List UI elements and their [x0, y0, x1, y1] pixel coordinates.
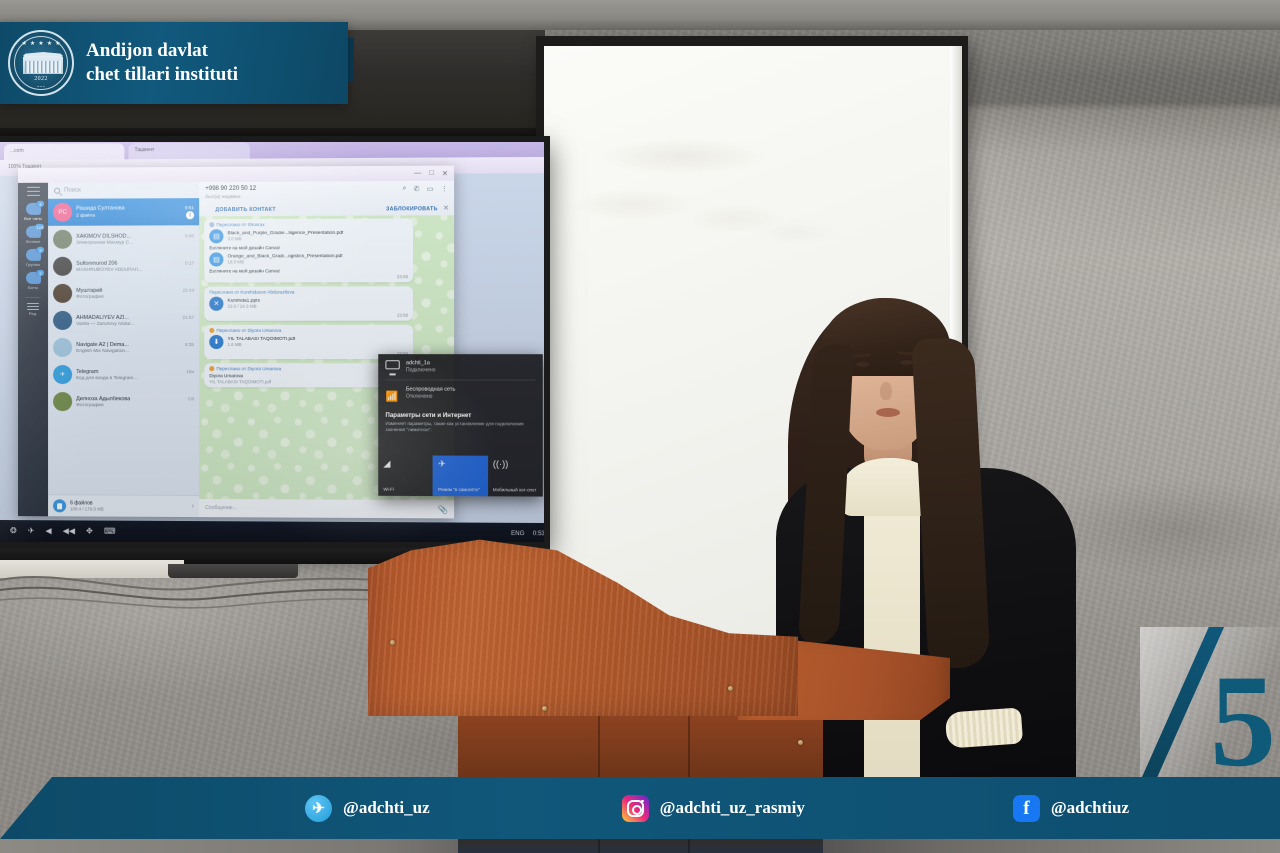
- file-attachment[interactable]: ▤ Black_and_Purple_Gradie...lligence_Pre…: [209, 229, 408, 244]
- network-name: adchti_1a: [406, 360, 436, 366]
- wall-display: ...com Ташкент 100% Тошкент — □ ✕: [0, 136, 550, 548]
- wifi-tile-icon: ◢: [383, 459, 427, 468]
- social-facebook[interactable]: f @adchtiuz: [1013, 795, 1129, 822]
- sender-avatar-icon: [209, 366, 214, 371]
- emblem-year: 2022: [10, 76, 72, 82]
- institution-line-2: chet tillari instituti: [86, 63, 238, 87]
- chat-text: Navigate A2 | Dema...8:35 English Mix Na…: [76, 341, 194, 353]
- powerpoint-icon: ✕: [209, 297, 223, 311]
- chat-preview: Электронная Махмур С...: [76, 240, 194, 245]
- message-bubble[interactable]: Переслано от Shoxrux ▤ Black_and_Purple_…: [204, 218, 413, 282]
- file-size: 18.0 MB: [228, 259, 343, 264]
- rail-badge-all-chats: 4: [37, 201, 44, 207]
- player-next-icon[interactable]: ✥: [86, 527, 93, 535]
- browser-tab-2[interactable]: Ташкент: [128, 142, 249, 159]
- conversation-header: +998 90 220 50 12 был(а) недавно ⌕ ✆ ▭ ⋮…: [199, 181, 454, 216]
- forwarded-label: Переслано от Diyora Umarova: [209, 328, 408, 333]
- chat-preview: Фотография: [76, 294, 194, 299]
- social-footer: ✈ @adchti_uz @adchti_uz_rasmiy f @adchti…: [0, 777, 1280, 839]
- player-rewind-icon[interactable]: ◀◀: [63, 527, 75, 535]
- document-icon: ▤: [209, 229, 223, 243]
- wireless-name: Беспроводная сеть: [406, 387, 455, 393]
- download-icon[interactable]: ⬇: [209, 335, 223, 349]
- paperclip-icon[interactable]: 📎: [438, 505, 448, 514]
- browser-tab-1[interactable]: ...com: [4, 143, 124, 160]
- emblem-building-icon: [23, 56, 63, 74]
- more-icon[interactable]: ⋮: [441, 185, 448, 193]
- chat-time: Cб: [188, 396, 194, 401]
- file-meta: YIL TALABASI TAQOIMOTI.pdf 1.6 MB: [228, 337, 296, 348]
- chat-preview: MASHRUBOYEV ABDURAH...: [76, 267, 194, 272]
- podium-screw: [542, 706, 547, 711]
- facebook-handle: @adchtiuz: [1051, 798, 1129, 818]
- chat-text: Дилноза АдылбековаCб Фотография: [76, 396, 194, 408]
- sweater-cuff: [945, 707, 1023, 748]
- unread-badge: 2: [186, 211, 194, 219]
- forwarded-label: Переслано от Kurshidaxon Abdurazilova: [209, 289, 408, 294]
- chat-preview: Код для входа в Telegram...: [76, 376, 194, 381]
- file-size: 1.6 MB: [228, 342, 296, 347]
- rail-divider: [25, 297, 41, 298]
- tile-label: Режим "в самолёте": [438, 486, 483, 492]
- contact-status: был(а) недавно: [205, 195, 240, 200]
- window-icon[interactable]: ▭: [427, 185, 434, 193]
- chat-preview: Фотография: [76, 403, 194, 408]
- wireless-status: Отключено: [406, 394, 455, 400]
- files-text: 6 файлов 100.4 / 179.0 MB: [70, 500, 104, 511]
- telegram-icon: ✈: [305, 795, 332, 822]
- emblem-columns: [25, 61, 61, 73]
- tile-airplane-mode[interactable]: ✈ Режим "в самолёте": [433, 456, 488, 497]
- file-meta: Kurshida1.pptx 23.5 / 24.3 MB: [228, 298, 260, 309]
- file-meta: Orange_and_Black_Gradi...ogistics_Presen…: [228, 254, 343, 265]
- rail-badge-private: 124: [35, 224, 44, 230]
- eye-left: [856, 362, 869, 367]
- chat-list-item[interactable]: Муштарий22:44 Фотография: [48, 280, 199, 307]
- chat-name: Рашида Султанова: [76, 205, 124, 211]
- rail-label-private: Личные: [26, 239, 41, 244]
- rail-label-all-chats: Все чаты: [24, 216, 42, 221]
- file-name: Black_and_Purple_Gradie...lligence_Prese…: [228, 231, 344, 236]
- network-flyout[interactable]: adchti_1a Подключено 📶 Беспроводная сеть…: [378, 354, 543, 496]
- nose: [880, 382, 892, 400]
- minimize-icon[interactable]: —: [414, 170, 421, 177]
- mouth: [876, 408, 900, 417]
- chat-list-item[interactable]: Дилноза АдылбековаCб Фотография: [48, 388, 199, 415]
- search-input[interactable]: Поиск: [48, 182, 199, 199]
- forwarded-from: Переслано от Diyora Umarova: [216, 328, 281, 333]
- screenshot-root: ...com Ташкент 100% Тошкент — □ ✕: [0, 0, 1280, 853]
- chat-time: 9:51: [185, 205, 194, 210]
- institution-header: ★★★★★ 2022 ~~~ Andijon davlat chet tilla…: [0, 22, 348, 104]
- podium-wood-grain: [368, 536, 798, 716]
- search-icon: [54, 188, 60, 194]
- message-placeholder: Сообщение...: [205, 505, 237, 511]
- add-contact-button[interactable]: ДОБАВИТЬ КОНТАКТ: [215, 206, 276, 212]
- file-size: 23.5 / 24.3 MB: [228, 304, 260, 309]
- quick-action-tiles: ◢ Wi-Fi ✈ Режим "в самолёте" ((·)) Мобил…: [378, 455, 543, 496]
- watermark-number: 5: [1210, 655, 1276, 777]
- network-connected-text: adchti_1a Подключено: [406, 360, 436, 373]
- file-attachment[interactable]: ⬇ YIL TALABASI TAQOIMOTI.pdf 1.6 MB: [209, 335, 408, 349]
- emblem-arc-text: ~~~: [10, 84, 72, 89]
- institution-name: Andijon davlat chet tillari instituti: [86, 39, 238, 86]
- network-connected-item[interactable]: adchti_1a Подключено: [378, 354, 543, 379]
- rail-item-groups[interactable]: 9 Группы: [18, 248, 48, 268]
- social-instagram[interactable]: @adchti_uz_rasmiy: [622, 795, 805, 822]
- chat-text: XAKIMOV DILSHOD...0:46 Электронная Махму…: [76, 233, 194, 245]
- block-contact-button[interactable]: ЗАБЛОКИРОВАТЬ: [386, 206, 438, 212]
- rail-item-private[interactable]: 124 Личные: [18, 225, 48, 245]
- hamburger-icon[interactable]: [27, 187, 40, 196]
- avatar: [53, 230, 72, 249]
- instagram-icon: [622, 795, 649, 822]
- files-download-bar[interactable]: 6 файлов 100.4 / 179.0 MB ›: [48, 494, 199, 517]
- telegram-icon[interactable]: ✈: [28, 527, 35, 535]
- chat-text: AHMADALIYEV AZI...21:57 Vazifa — Zarurlo…: [76, 314, 194, 326]
- chat-text: Sultonmurod 2060:17 MASHRUBOYEV ABDURAH.…: [76, 260, 194, 272]
- edit-icon: [27, 303, 39, 310]
- wifi-icon: 📶: [385, 387, 399, 399]
- forwarded-from: Переслано от Diyora Umarova: [216, 366, 281, 371]
- file-attachment[interactable]: ✕ Kurshida1.pptx 23.5 / 24.3 MB: [209, 296, 408, 310]
- chat-time: 21:57: [182, 314, 194, 319]
- social-telegram[interactable]: ✈ @adchti_uz: [305, 795, 430, 822]
- file-size: 3.0 MB: [228, 236, 344, 241]
- chat-preview: 2 файла: [76, 214, 95, 219]
- telegram-chat-list[interactable]: Поиск PC Рашида Султанова9:51 2 файла2: [48, 182, 199, 517]
- chat-time: 19н: [186, 369, 194, 374]
- rail-item-edit[interactable]: Ред.: [18, 302, 48, 317]
- search-icon[interactable]: ⌕: [402, 185, 406, 193]
- tile-label: Wi-Fi: [383, 486, 427, 492]
- telegram-folder-rail[interactable]: 4 Все чаты 124 Личные 9 Группы: [18, 183, 48, 516]
- player-prev-icon[interactable]: ◀: [45, 527, 51, 535]
- rail-label-groups: Группы: [26, 262, 40, 267]
- keyboard-icon[interactable]: ⌨: [104, 528, 116, 536]
- chat-name: Navigate A2 | Dema...: [76, 341, 129, 347]
- rail-item-bots[interactable]: 2 Боты: [18, 271, 48, 291]
- instagram-handle: @adchti_uz_rasmiy: [660, 798, 805, 818]
- chat-list-item[interactable]: Navigate A2 | Dema...8:35 English Mix Na…: [48, 334, 199, 361]
- airplane-icon: ✈: [438, 460, 483, 469]
- chat-list-item[interactable]: ✈ Telegram19н Код для входа в Telegram..…: [48, 361, 199, 388]
- chat-name: Sultonmurod 206: [76, 260, 117, 266]
- avatar: [53, 311, 72, 330]
- rail-item-all-chats[interactable]: 4 Все чаты: [18, 202, 48, 222]
- chat-text: Рашида Султанова9:51 2 файла2: [76, 205, 194, 220]
- network-wireless-text: Беспроводная сеть Отключено: [406, 387, 455, 400]
- telegram-handle: @adchti_uz: [343, 798, 430, 818]
- chat-time: 8:35: [185, 341, 194, 346]
- call-icon[interactable]: ✆: [414, 185, 420, 193]
- avatar: PC: [53, 203, 72, 222]
- avatar: [53, 257, 72, 276]
- message-bubble[interactable]: Переслано от Kurshidaxon Abdurazilova ✕ …: [204, 286, 413, 321]
- avatar: [53, 284, 72, 303]
- message-timestamp: 23:58: [209, 313, 408, 318]
- file-name: Kurshida1.pptx: [228, 298, 260, 303]
- avatar: [53, 392, 72, 411]
- network-wireless-item[interactable]: 📶 Беспроводная сеть Отключено: [378, 380, 543, 406]
- emblem-stars: ★★★★★: [10, 41, 72, 47]
- sender-avatar-icon: [209, 222, 214, 227]
- rail-badge-groups: 9: [37, 247, 44, 253]
- contact-action-bar: ДОБАВИТЬ КОНТАКТ ЗАБЛОКИРОВАТЬ: [199, 202, 454, 216]
- podium-screw: [728, 686, 733, 691]
- display-screen[interactable]: ...com Ташкент 100% Тошкент — □ ✕: [0, 139, 550, 546]
- contact-phone: +998 90 220 50 12: [205, 186, 256, 192]
- chat-name: AHMADALIYEV AZI...: [76, 314, 129, 320]
- tile-label: Мобильный хот-спот: [493, 487, 538, 493]
- network-settings-desc: Изменяет параметры, такие как установлен…: [378, 421, 543, 434]
- chat-name: Муштарий: [76, 287, 102, 293]
- file-icon: [53, 499, 66, 512]
- chat-list-item[interactable]: XAKIMOV DILSHOD...0:46 Электронная Махму…: [48, 225, 199, 253]
- message-timestamp: 23:58: [209, 274, 408, 279]
- search-placeholder: Поиск: [64, 188, 81, 194]
- close-bar-icon[interactable]: ✕: [443, 204, 449, 212]
- forwarded-from: Переслано от Shoxrux: [216, 222, 264, 227]
- chevron-right-icon[interactable]: ›: [192, 503, 194, 510]
- forwarded-from: Переслано от Kurshidaxon Abdurazilova: [209, 290, 294, 295]
- file-attachment[interactable]: ▤ Orange_and_Black_Gradi...ogistics_Pres…: [209, 252, 408, 267]
- avatar: ✈: [53, 365, 72, 384]
- facebook-icon: f: [1013, 795, 1040, 822]
- message-input[interactable]: Сообщение... 📎: [199, 499, 454, 518]
- institution-emblem: ★★★★★ 2022 ~~~: [8, 30, 74, 96]
- chat-time: 0:17: [185, 260, 194, 265]
- file-caption: Взгляните на мой дизайн Canva!: [209, 268, 408, 273]
- corner-watermark: 5: [1140, 627, 1280, 777]
- close-icon[interactable]: ✕: [442, 169, 448, 177]
- sender-avatar-icon: [209, 328, 214, 333]
- chat-list-item[interactable]: AHMADALIYEV AZI...21:57 Vazifa — Zarurlo…: [48, 307, 199, 334]
- file-meta: Black_and_Purple_Gradie...lligence_Prese…: [228, 231, 344, 242]
- monitor-icon: [385, 360, 399, 372]
- files-progress: 100.4 / 179.0 MB: [70, 506, 104, 511]
- institution-line-1: Andijon davlat: [86, 39, 238, 63]
- start-icon[interactable]: ❂: [10, 527, 17, 535]
- file-caption: Взгляните на мой дизайн Canva!: [209, 245, 408, 251]
- eye-right: [900, 360, 913, 365]
- network-settings-title[interactable]: Параметры сети и Интернет: [378, 406, 543, 422]
- chat-name: Дилноза Адылбекова: [76, 396, 130, 402]
- file-name: Orange_and_Black_Gradi...ogistics_Presen…: [228, 254, 343, 259]
- maximize-icon[interactable]: □: [429, 170, 433, 177]
- chat-preview: Vazifa — Zarurlovy Abdur...: [76, 321, 194, 326]
- chat-name: Telegram: [76, 369, 98, 375]
- document-icon: ▤: [209, 252, 223, 266]
- tile-wifi[interactable]: ◢ Wi-Fi: [378, 455, 433, 496]
- tile-mobile-hotspot[interactable]: ((·)) Мобильный хот-спот: [488, 456, 543, 497]
- podium-screw: [798, 740, 803, 745]
- chat-list-item[interactable]: PC Рашида Султанова9:51 2 файла2: [48, 198, 199, 226]
- chat-text: Telegram19н Код для входа в Telegram...: [76, 369, 194, 381]
- network-status: Подключено: [406, 367, 436, 373]
- conversation-actions: ⌕ ✆ ▭ ⋮: [402, 185, 448, 193]
- chat-text: Муштарий22:44 Фотография: [76, 287, 194, 299]
- chat-name: XAKIMOV DILSHOD...: [76, 233, 131, 239]
- rail-label-bots: Боты: [28, 285, 38, 290]
- rail-badge-bots: 2: [37, 270, 44, 276]
- chat-preview: English Mix Navigation...: [76, 349, 194, 354]
- podium-screw: [390, 640, 395, 645]
- chat-list-item[interactable]: Sultonmurod 2060:17 MASHRUBOYEV ABDURAH.…: [48, 252, 199, 279]
- chat-time: 0:46: [185, 233, 194, 238]
- avatar: [53, 338, 72, 357]
- forwarded-label: Переслано от Shoxrux: [209, 221, 408, 227]
- file-name: YIL TALABASI TAQOIMOTI.pdf: [228, 337, 296, 342]
- chat-time: 22:44: [182, 287, 194, 292]
- rail-label-edit: Ред.: [29, 311, 37, 316]
- hotspot-icon: ((·)): [493, 460, 538, 469]
